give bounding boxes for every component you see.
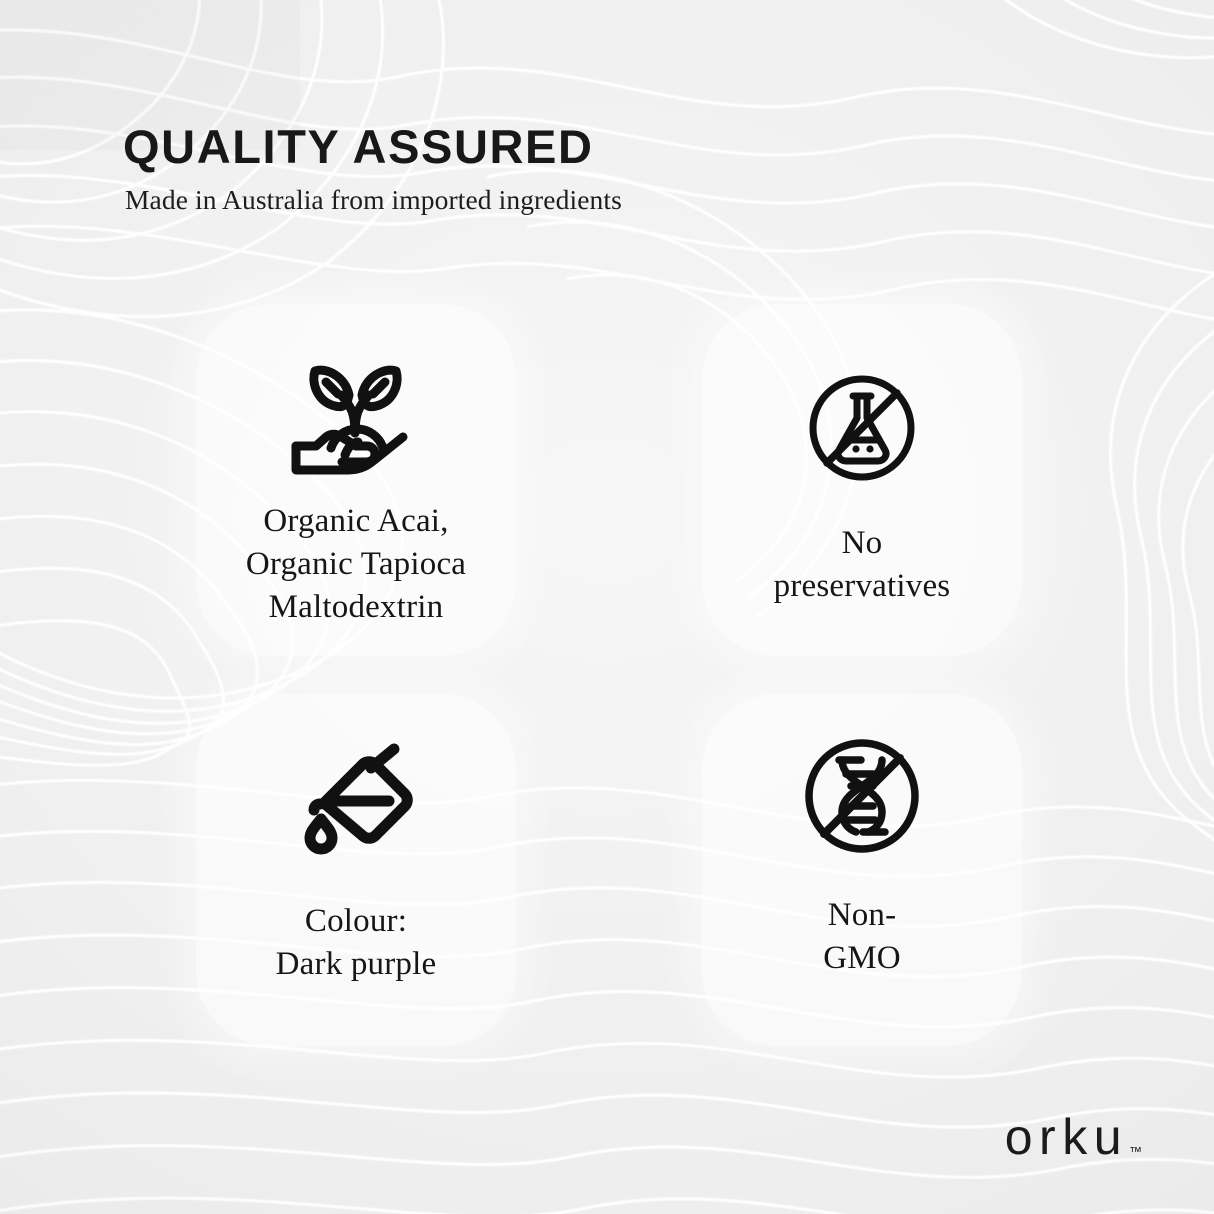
label-line: Organic Tapioca: [201, 543, 511, 586]
feature-card-grid: Organic Acai, Organic Tapioca Maltodextr…: [196, 304, 1022, 1046]
label-line: Non-: [707, 894, 1017, 937]
no-dna-icon: [798, 728, 926, 864]
header: QUALITY ASSURED Made in Australia from i…: [123, 122, 1023, 216]
page-title: QUALITY ASSURED: [123, 122, 1023, 171]
feature-card-non-gmo: Non- GMO: [702, 694, 1022, 1046]
trademark-symbol: ™: [1129, 1144, 1142, 1159]
label-line: Dark purple: [201, 943, 511, 986]
label-line: No: [707, 522, 1017, 565]
feature-card-ingredients-label: Organic Acai, Organic Tapioca Maltodextr…: [201, 500, 511, 629]
brand-wordmark: orku: [1005, 1112, 1128, 1162]
label-line: Organic Acai,: [201, 500, 511, 543]
brand-logo: orku ™: [1005, 1112, 1142, 1162]
label-line: Colour:: [201, 900, 511, 943]
no-flask-icon: [804, 360, 920, 496]
page-subtitle: Made in Australia from imported ingredie…: [125, 185, 1023, 215]
feature-card-colour: Colour: Dark purple: [196, 694, 516, 1046]
paint-bucket-icon: [293, 734, 419, 870]
quality-assured-infographic: QUALITY ASSURED Made in Australia from i…: [0, 0, 1214, 1214]
feature-card-non-gmo-label: Non- GMO: [707, 894, 1017, 980]
feature-card-no-preservatives-label: No preservatives: [707, 522, 1017, 608]
feature-card-no-preservatives: No preservatives: [702, 304, 1022, 656]
feature-card-colour-label: Colour: Dark purple: [201, 900, 511, 986]
label-line: Maltodextrin: [201, 586, 511, 629]
feature-card-ingredients: Organic Acai, Organic Tapioca Maltodextr…: [196, 304, 516, 656]
label-line: preservatives: [707, 565, 1017, 608]
label-line: GMO: [707, 937, 1017, 980]
sprout-in-hand-icon: [285, 348, 427, 484]
